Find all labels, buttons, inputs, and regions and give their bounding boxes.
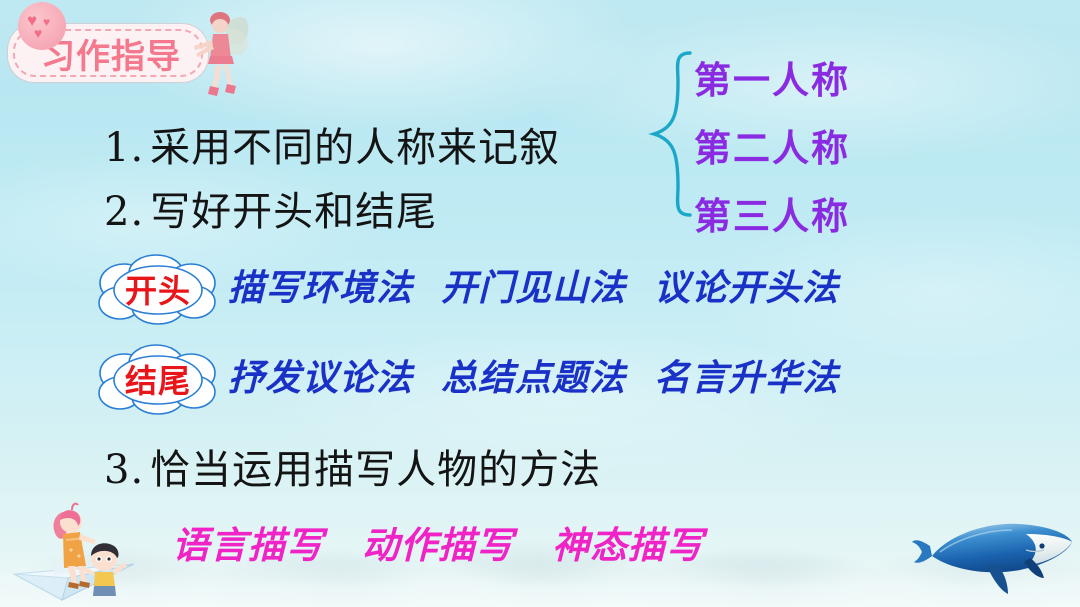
- outline-item-1: 1.采用不同的人称来记叙: [104, 115, 560, 173]
- describe-method-row: 语言描写动作描写神态描写: [172, 515, 704, 569]
- person-item-third: 第三人称: [694, 186, 850, 240]
- method-list-opening: 描写环境法开门见山法议论开头法: [228, 259, 839, 311]
- kids-paper-plane-icon: [8, 496, 180, 604]
- describe-item: 语言描写: [172, 523, 324, 567]
- method-item: 开门见山法: [441, 267, 626, 309]
- cloud-label-opening: 开头: [96, 253, 220, 325]
- method-item: 描写环境法: [228, 267, 413, 309]
- cloud-label-text: 结尾: [96, 343, 220, 415]
- outline-index: 1.: [104, 125, 144, 171]
- slide-canvas: 习作指导 ♥ ♥ ♥ 1.采用不同的人称来记叙 2.写好开头和结尾 3.恰当运用…: [0, 0, 1080, 607]
- person-item-second: 第二人称: [694, 118, 850, 172]
- heart-icon: ♥: [43, 16, 50, 28]
- method-item: 总结点题法: [441, 357, 626, 399]
- method-item: 抒发议论法: [228, 357, 413, 399]
- outline-index: 3.: [104, 447, 144, 493]
- heart-icon: ♥: [34, 28, 42, 42]
- method-item: 议论开头法: [654, 267, 839, 309]
- outline-text: 写好开头和结尾: [150, 189, 437, 235]
- whale-icon: [908, 508, 1076, 600]
- outline-text: 采用不同的人称来记叙: [150, 125, 560, 171]
- curly-brace-icon: [648, 48, 694, 220]
- person-item-first: 第一人称: [694, 50, 850, 104]
- method-item: 名言升华法: [654, 357, 839, 399]
- method-list-ending: 抒发议论法总结点题法名言升华法: [228, 349, 839, 401]
- describe-item: 动作描写: [362, 523, 514, 567]
- fairy-icon: [186, 2, 260, 106]
- cloud-label-text: 开头: [96, 253, 220, 325]
- outline-text: 恰当运用描写人物的方法: [150, 447, 601, 493]
- cloud-label-ending: 结尾: [96, 343, 220, 415]
- outline-item-2: 2.写好开头和结尾: [104, 179, 437, 237]
- outline-index: 2.: [104, 189, 144, 235]
- outline-item-3: 3.恰当运用描写人物的方法: [104, 437, 601, 495]
- describe-item: 神态描写: [552, 523, 704, 567]
- hearts-bubble-icon: ♥ ♥ ♥: [18, 2, 66, 50]
